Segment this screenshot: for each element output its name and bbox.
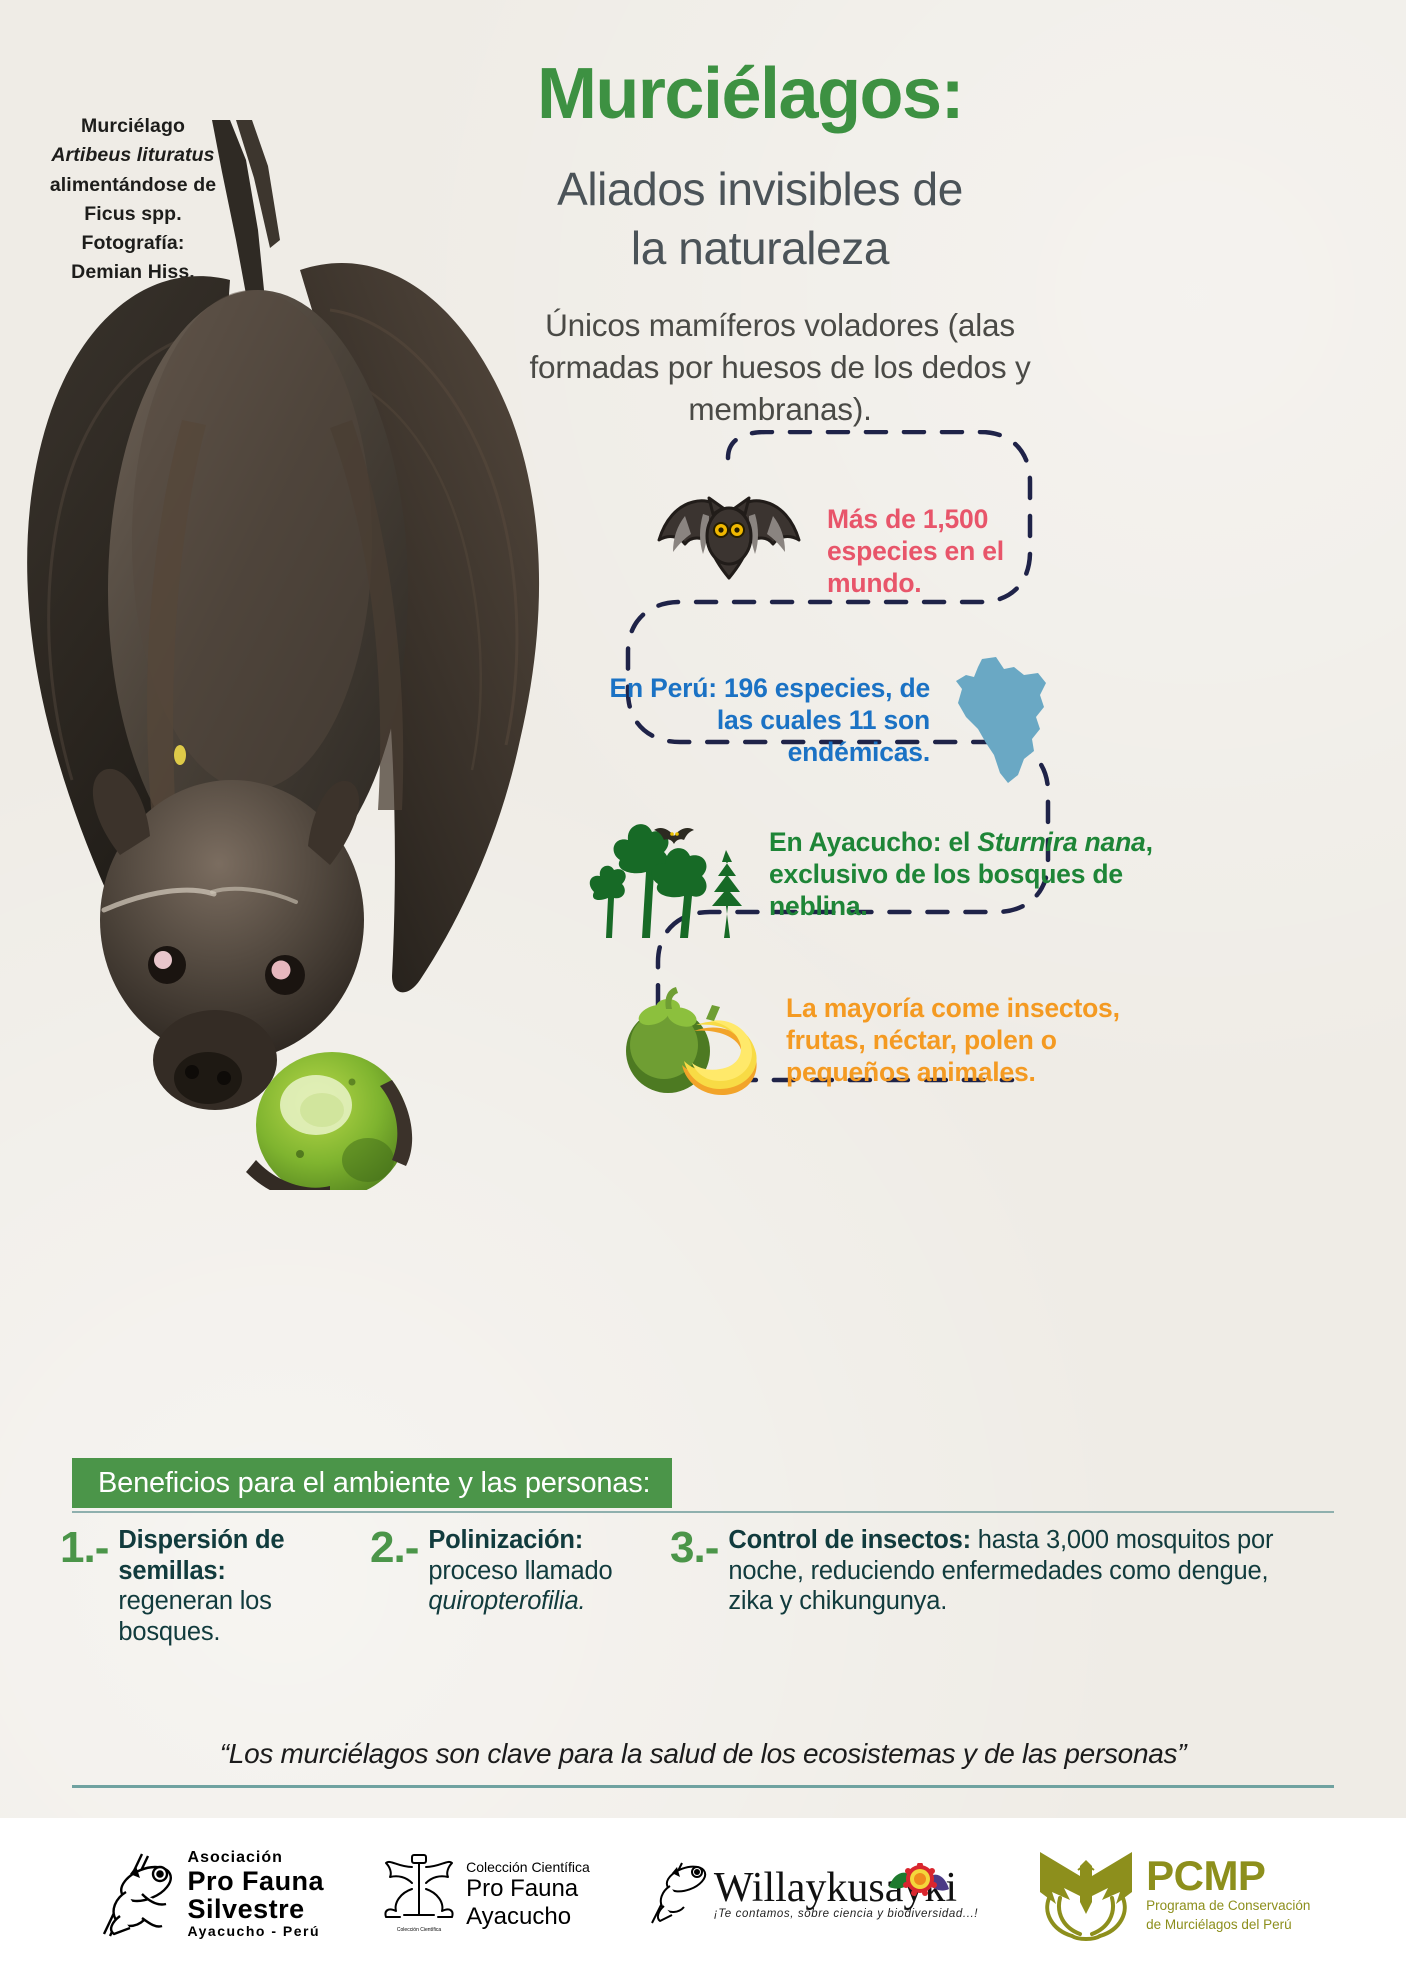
closing-quote: “Los murciélagos son clave para la salud… xyxy=(72,1738,1334,1770)
footer-logo-bar: Asociación Pro Fauna Silvestre Ayacucho … xyxy=(0,1818,1406,1971)
logo-cc-line2: Pro Fauna xyxy=(466,1875,590,1903)
fact-aya-species: Sturnira nana xyxy=(977,827,1145,857)
lead-paragraph: Únicos mamíferos voladores (alas formada… xyxy=(500,305,1060,431)
benefit-2-title: Polinización: xyxy=(428,1526,583,1554)
fact-bat-diet: La mayoría come insectos, frutas, néctar… xyxy=(610,975,1300,1105)
fact-peru-species: En Perú: 196 especies, de las cuales 11 … xyxy=(600,655,1300,785)
logo-pcmp-line1: Programa de Conservación xyxy=(1146,1897,1310,1915)
fact-bat-species-text: Más de 1,500 especies en el mundo. xyxy=(827,503,1079,600)
benefit-1-body: regeneran los bosques. xyxy=(118,1587,271,1646)
page-subtitle: Aliados invisibles de la naturaleza xyxy=(450,160,1070,278)
quote-divider xyxy=(72,1785,1334,1788)
infographic-poster: Murciélago Artibeus lituratus alimentánd… xyxy=(0,0,1406,1971)
cloud-forest-icon xyxy=(580,810,755,938)
logo-pfs-line1: Asociación xyxy=(188,1849,325,1867)
bat-hands-logo-icon xyxy=(1034,1842,1138,1947)
bat-photograph xyxy=(0,120,620,1190)
logo-pcmp: PCMP Programa de Conservación de Murciél… xyxy=(1034,1842,1310,1947)
peru-map-icon xyxy=(952,655,1060,785)
logo-willaykusayki: Willaykusayki xyxy=(646,1853,978,1936)
benefit-item-2: 2.- Polinización:proceso llamado quiropt… xyxy=(370,1525,670,1647)
logo-willay-tagline: ¡Te contamos, sobre ciencia y biodiversi… xyxy=(714,1908,978,1920)
frog-logo-icon xyxy=(96,1844,182,1945)
frog-outline-logo-icon: Colección Científica xyxy=(380,1849,458,1940)
logo-cc-line1: Colección Científica xyxy=(466,1859,590,1876)
fruit-icon xyxy=(610,975,770,1105)
fact-ayacucho-text: En Ayacucho: el Sturnira nana, exclusivo… xyxy=(769,826,1189,923)
benefit-2-number: 2.- xyxy=(370,1525,428,1647)
bat-icon xyxy=(655,496,803,606)
logo-pfs-line2a: Pro Fauna xyxy=(188,1867,325,1895)
benefits-banner: Beneficios para el ambiente y las person… xyxy=(72,1458,672,1508)
frog-flower-logo-icon xyxy=(646,1853,712,1936)
logo-pro-fauna-silvestre: Asociación Pro Fauna Silvestre Ayacucho … xyxy=(96,1844,325,1945)
fact-peru-text: En Perú: 196 especies, de las cuales 11 … xyxy=(600,672,930,769)
benefit-1-title: Dispersión de semillas: xyxy=(118,1526,284,1585)
fact-ayacucho-species: En Ayacucho: el Sturnira nana, exclusivo… xyxy=(580,810,1300,938)
benefit-2-text: Polinización:proceso llamado quiropterof… xyxy=(428,1525,670,1647)
logo-coleccion-cientifica: Colección Científica Colección Científic… xyxy=(380,1849,590,1940)
benefits-list: 1.- Dispersión de semillas:regeneran los… xyxy=(60,1525,1350,1647)
flower-ornament-icon xyxy=(887,1863,951,1904)
logo-pcmp-line2: de Murciélagos del Perú xyxy=(1146,1916,1310,1934)
subtitle-line-2: la naturaleza xyxy=(450,219,1070,278)
benefit-1-number: 1.- xyxy=(60,1525,118,1647)
benefits-divider xyxy=(72,1511,1334,1513)
benefit-2-body: proceso llamado xyxy=(428,1557,612,1585)
fact-diet-text: La mayoría come insectos, frutas, néctar… xyxy=(786,992,1146,1089)
benefit-2-body-italic: quiropterofilia. xyxy=(428,1587,585,1615)
fact-bat-species: Más de 1,500 especies en el mundo. xyxy=(655,496,1275,606)
fact-bats-prefix: Más de xyxy=(827,504,923,534)
logo-pcmp-acronym: PCMP xyxy=(1146,1855,1310,1897)
benefit-item-1: 1.- Dispersión de semillas:regeneran los… xyxy=(60,1525,370,1647)
logo-pfs-line3: Ayacucho - Perú xyxy=(188,1923,325,1940)
benefit-3-text: Control de insectos: hasta 3,000 mosquit… xyxy=(728,1525,1310,1647)
benefit-1-text: Dispersión de semillas:regeneran los bos… xyxy=(118,1525,370,1647)
benefit-3-number: 3.- xyxy=(670,1525,728,1647)
benefits-banner-title: Beneficios para el ambiente y las person… xyxy=(72,1467,650,1500)
logo-pfs-line2b: Silvestre xyxy=(188,1895,325,1923)
subtitle-line-1: Aliados invisibles de xyxy=(450,160,1070,219)
page-title: Murciélagos: xyxy=(420,58,1080,131)
fact-aya-prefix: En Ayacucho: el xyxy=(769,827,977,857)
benefit-item-3: 3.- Control de insectos: hasta 3,000 mos… xyxy=(670,1525,1310,1647)
svg-text:Colección Científica: Colección Científica xyxy=(397,1927,441,1933)
benefit-3-title: Control de insectos: xyxy=(728,1526,971,1554)
logo-cc-line3: Ayacucho xyxy=(466,1903,590,1931)
